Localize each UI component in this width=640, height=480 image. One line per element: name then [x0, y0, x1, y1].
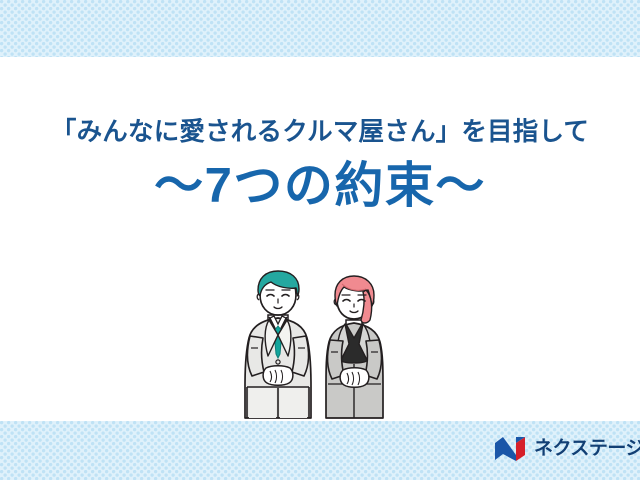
female-staff: [326, 276, 383, 418]
headline-main: 「みんなに愛されるクルマ屋さん」を目指して: [0, 118, 640, 147]
two-bowing-staff-illustration: [236, 268, 426, 428]
nextage-logo: ネクステージ: [494, 436, 640, 461]
headline-sub: 〜7つの約束〜: [0, 161, 640, 212]
nextage-n-mark: [494, 436, 528, 461]
male-staff: [245, 271, 311, 418]
nextage-logo-text: ネクステージ: [534, 439, 640, 458]
headline-block: 「みんなに愛されるクルマ屋さん」を目指して 〜7つの約束〜: [0, 118, 640, 213]
promo-banner: 「みんなに愛されるクルマ屋さん」を目指して 〜7つの約束〜: [0, 0, 640, 480]
dotted-band-top: [0, 0, 640, 57]
